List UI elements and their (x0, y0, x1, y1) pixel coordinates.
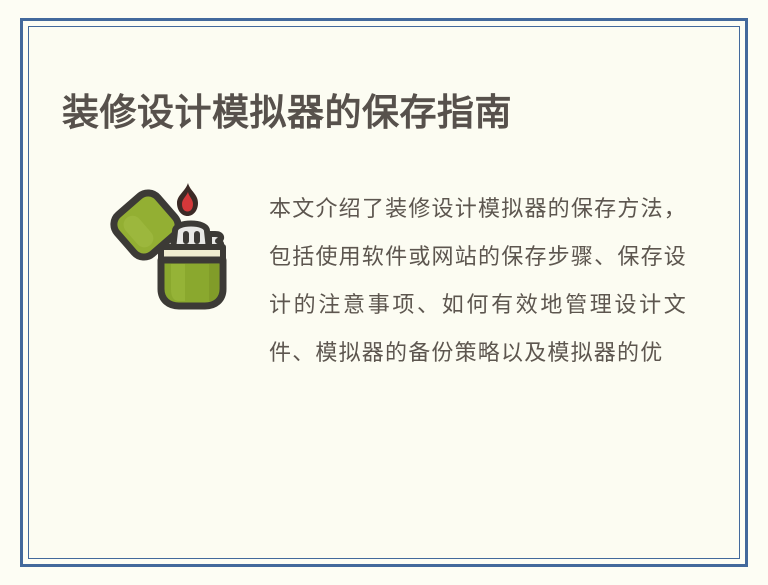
article-card: 装修设计模拟器的保存指南 (20, 18, 748, 567)
page-title: 装修设计模拟器的保存指南 (62, 90, 512, 136)
article-card-inner-border: 装修设计模拟器的保存指南 (28, 26, 740, 559)
lighter-icon (99, 177, 233, 311)
article-summary: 本文介绍了装修设计模拟器的保存方法，包括使用软件或网站的保存步骤、保存设计的注意… (269, 186, 687, 378)
